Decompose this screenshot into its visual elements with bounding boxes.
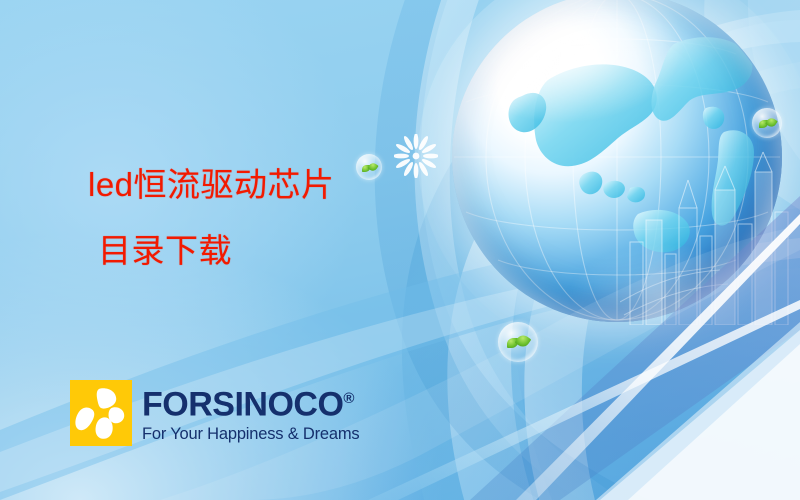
headline-line-2: 目录下载 xyxy=(88,232,428,270)
banner-canvas: led恒流驱动芯片 目录下载 FORSINOCO® For Your Happ xyxy=(0,0,800,500)
logo-wordmark: FORSINOCO® For Your Happiness & Dreams xyxy=(142,382,359,443)
headline-line-1: led恒流驱动芯片 xyxy=(88,166,335,203)
brand-logo: FORSINOCO® For Your Happiness & Dreams xyxy=(70,380,359,446)
bubble-with-leaves-icon xyxy=(752,108,782,138)
registered-trademark-symbol: ® xyxy=(343,390,354,407)
headline-text: led恒流驱动芯片 目录下载 xyxy=(88,166,428,270)
logo-mark-square xyxy=(70,380,132,446)
bubble-with-leaves-icon xyxy=(498,322,538,362)
brand-tagline: For Your Happiness & Dreams xyxy=(142,424,359,444)
four-petal-flower-icon xyxy=(70,380,132,446)
brand-name: FORSINOCO® xyxy=(142,382,359,421)
brand-name-text: FORSINOCO xyxy=(142,386,343,424)
